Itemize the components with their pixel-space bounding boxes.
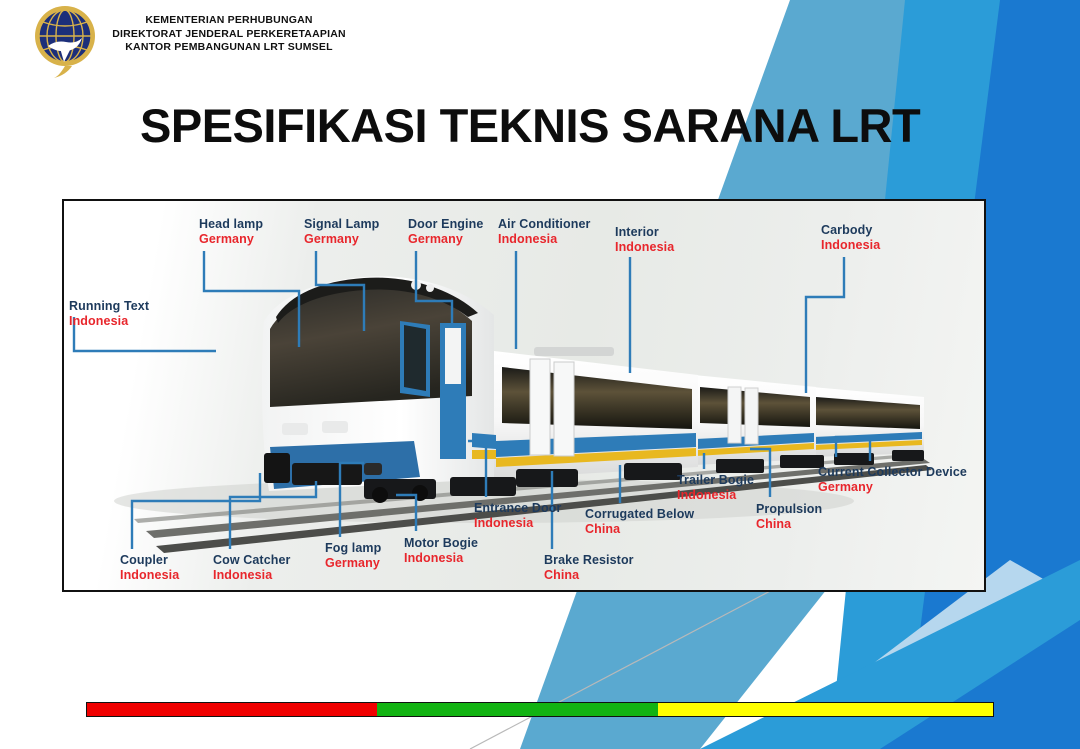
callout-door-engine: Door EngineGermany	[408, 217, 483, 247]
globe-wing-logo-icon	[30, 4, 100, 78]
callout-part-name: Coupler	[120, 553, 179, 568]
lrt-diagram-panel: Running TextIndonesiaHead lampGermanySig…	[62, 199, 986, 592]
callout-corrugated-below: Corrugated BelowChina	[585, 507, 694, 537]
ministry-line-1: KEMENTERIAN PERHUBUNGAN	[104, 14, 354, 28]
callout-country-name: Indonesia	[821, 238, 880, 253]
callout-part-name: Trailer Bogie	[677, 473, 754, 488]
roof-light	[411, 280, 421, 290]
callout-coupler: CouplerIndonesia	[120, 553, 179, 583]
train-car-4	[812, 387, 924, 465]
head-lamp	[322, 421, 348, 433]
footer-color-bar	[86, 702, 994, 717]
callout-country-name: Germany	[304, 232, 379, 247]
ministry-line-2: DIREKTORAT JENDERAL PERKERETAAPIAN	[104, 28, 354, 42]
callout-part-name: Air Conditioner	[498, 217, 590, 232]
door	[554, 362, 574, 456]
roof-ac-unit	[534, 347, 614, 356]
callout-country-name: Indonesia	[498, 232, 590, 247]
callout-country-name: China	[544, 568, 634, 583]
callout-country-name: China	[585, 522, 694, 537]
callout-part-name: Propulsion	[756, 502, 822, 517]
callout-part-name: Motor Bogie	[404, 536, 478, 551]
callout-part-name: Door Engine	[408, 217, 483, 232]
callout-part-name: Carbody	[821, 223, 880, 238]
callout-country-name: Germany	[325, 556, 381, 571]
callout-entrance-door: Entrance DoorIndonesia	[474, 501, 561, 531]
callout-cow-catcher: Cow CatcherIndonesia	[213, 553, 291, 583]
bogie	[450, 477, 516, 496]
callout-country-name: Indonesia	[213, 568, 291, 583]
callout-carbody: CarbodyIndonesia	[821, 223, 880, 253]
yellow-segment	[658, 703, 993, 716]
callout-country-name: Germany	[818, 480, 967, 495]
head-lamp	[282, 423, 308, 435]
callout-part-name: Running Text	[69, 299, 149, 314]
callout-part-name: Cow Catcher	[213, 553, 291, 568]
callout-part-name: Current Collector Device	[818, 465, 967, 480]
bogie	[834, 453, 874, 465]
bg-shape-bottom-strong	[880, 620, 1080, 749]
train-car-1	[262, 276, 516, 503]
callout-air-conditioner: Air ConditionerIndonesia	[498, 217, 590, 247]
train-car-3	[694, 375, 824, 473]
ministry-title-block: KEMENTERIAN PERHUBUNGAN DIREKTORAT JENDE…	[104, 14, 354, 55]
callout-part-name: Signal Lamp	[304, 217, 379, 232]
slide-canvas: KEMENTERIAN PERHUBUNGAN DIREKTORAT JENDE…	[0, 0, 1080, 749]
door	[745, 388, 758, 444]
callout-country-name: Germany	[199, 232, 263, 247]
header: KEMENTERIAN PERHUBUNGAN DIREKTORAT JENDE…	[0, 0, 520, 80]
callout-country-name: Indonesia	[677, 488, 754, 503]
roof-light	[426, 284, 434, 292]
callout-country-name: Indonesia	[69, 314, 149, 329]
door	[728, 387, 741, 443]
callout-country-name: Indonesia	[615, 240, 674, 255]
red-segment	[87, 703, 377, 716]
train-car-2	[494, 347, 698, 487]
coupler	[264, 453, 290, 483]
door	[530, 359, 550, 455]
callout-country-name: Germany	[408, 232, 483, 247]
bogie	[624, 463, 682, 480]
bogie	[716, 459, 764, 473]
green-segment	[377, 703, 658, 716]
callout-country-name: China	[756, 517, 822, 532]
bogie	[516, 469, 578, 487]
callout-interior: InteriorIndonesia	[615, 225, 674, 255]
callout-part-name: Head lamp	[199, 217, 263, 232]
callout-part-name: Entrance Door	[474, 501, 561, 516]
callout-fog-lamp: Fog lampGermany	[325, 541, 381, 571]
callout-signal-lamp: Signal LampGermany	[304, 217, 379, 247]
callout-country-name: Indonesia	[474, 516, 561, 531]
callout-part-name: Corrugated Below	[585, 507, 694, 522]
ministry-line-3: KANTOR PEMBANGUNAN LRT SUMSEL	[104, 41, 354, 55]
bogie	[892, 450, 924, 461]
callout-brake-resistor: Brake ResistorChina	[544, 553, 634, 583]
callout-head-lamp: Head lampGermany	[199, 217, 263, 247]
callout-country-name: Indonesia	[120, 568, 179, 583]
cow-catcher	[292, 463, 362, 485]
callout-motor-bogie: Motor BogieIndonesia	[404, 536, 478, 566]
callout-part-name: Brake Resistor	[544, 553, 634, 568]
callout-propulsion: PropulsionChina	[756, 502, 822, 532]
fog-lamp	[364, 463, 382, 475]
callout-current-collector-device: Current Collector DeviceGermany	[818, 465, 967, 495]
page-title: SPESIFIKASI TEKNIS SARANA LRT	[140, 98, 940, 153]
callout-trailer-bogie: Trailer BogieIndonesia	[677, 473, 754, 503]
callout-running-text: Running TextIndonesia	[69, 299, 149, 329]
callout-country-name: Indonesia	[404, 551, 478, 566]
callout-part-name: Fog lamp	[325, 541, 381, 556]
callout-part-name: Interior	[615, 225, 674, 240]
